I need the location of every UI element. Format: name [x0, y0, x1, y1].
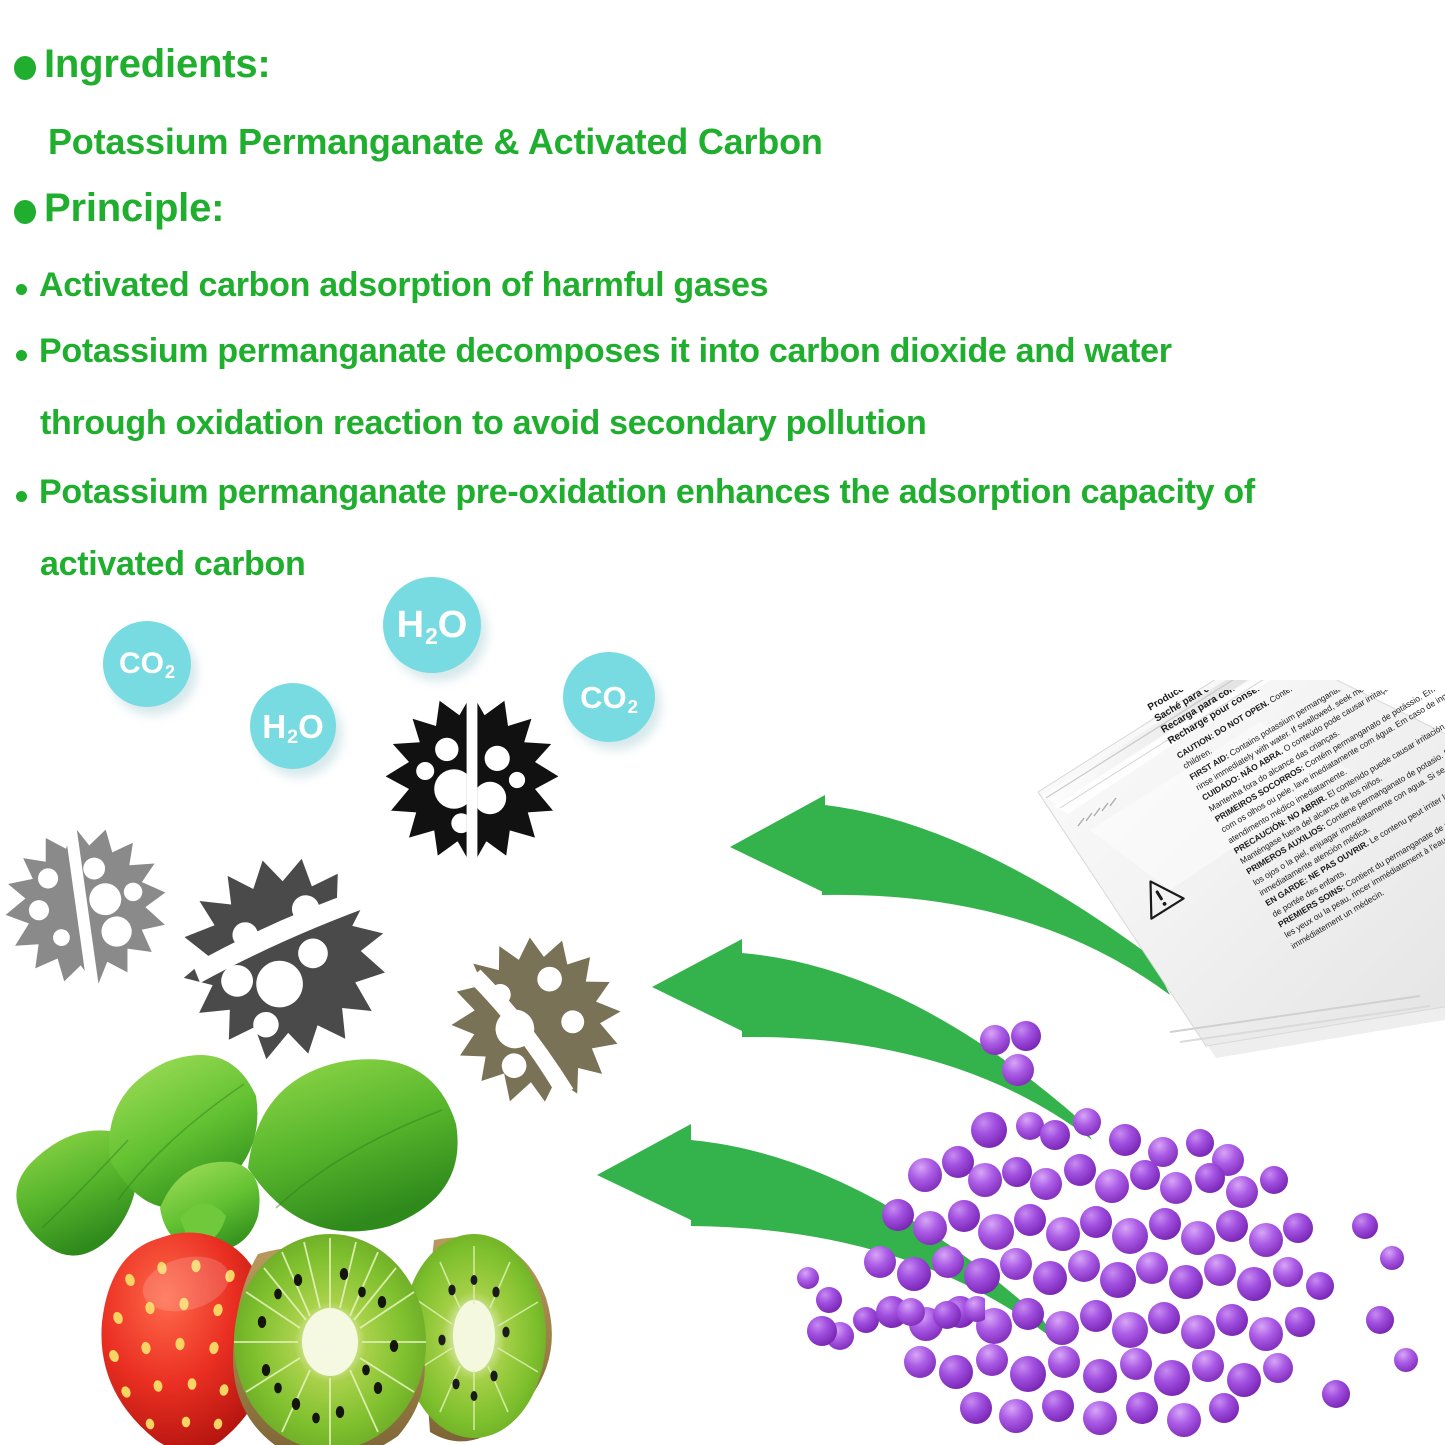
- principle-item-2-line-1: Potassium permanganate decomposes it int…: [39, 334, 1172, 368]
- ingredients-value: Potassium Permanganate & Activated Carbo…: [48, 121, 823, 162]
- virus-icon-black-split: [382, 690, 562, 870]
- potassium-permanganate-granules: [780, 1000, 1445, 1445]
- bullet-dot-icon: [14, 200, 36, 224]
- ingredients-heading: Ingredients:: [44, 44, 271, 84]
- gas-bubble-co2-left-label: CO: [119, 649, 164, 679]
- gas-bubble-h2o-top-tail: O: [438, 606, 468, 644]
- fresh-fruit-illustration: [0, 1040, 630, 1445]
- principle-item-1-line-1: Activated carbon adsorption of harmful g…: [39, 268, 768, 302]
- principle-item-2-line-2-row: through oxidation reaction to avoid seco…: [40, 406, 926, 440]
- gas-bubble-co2-left: CO2: [103, 621, 191, 707]
- ingredients-value-row: Potassium Permanganate & Activated Carbo…: [48, 124, 823, 160]
- principle-heading: Principle:: [44, 188, 224, 228]
- gas-bubble-h2o-top: H2O: [383, 577, 481, 673]
- gas-bubble-h2o-top-label: H: [397, 606, 424, 644]
- gas-bubble-h2o-top-subscript: 2: [425, 625, 438, 648]
- gas-bubble-co2-left-subscript: 2: [165, 663, 175, 681]
- bullet-dot-icon: [14, 56, 36, 80]
- principle-item-2: Potassium permanganate decomposes it int…: [16, 334, 1172, 368]
- principle-item-2-line-2: through oxidation reaction to avoid seco…: [40, 404, 926, 442]
- bullet-dot-icon: [16, 284, 27, 295]
- leaf-cluster: [16, 1055, 457, 1256]
- gas-bubble-co2-right: CO2: [563, 652, 655, 742]
- gas-bubble-h2o-lower: H2O: [250, 683, 336, 769]
- gas-bubble-h2o-lower-label: H: [262, 710, 286, 743]
- principle-heading-row: Principle:: [14, 188, 224, 228]
- bullet-dot-icon: [16, 491, 27, 502]
- ingredients-heading-row: Ingredients:: [14, 44, 271, 84]
- gas-bubble-h2o-lower-tail: O: [298, 710, 324, 743]
- principle-item-3: Potassium permanganate pre-oxidation enh…: [16, 475, 1255, 509]
- gas-bubble-h2o-lower-subscript: 2: [287, 728, 298, 748]
- virus-icon-light-gray-split: [0, 812, 181, 1002]
- gas-bubble-co2-right-subscript: 2: [628, 698, 638, 717]
- escaping-granules: [795, 1285, 985, 1375]
- kiwi-half-front: [233, 1234, 426, 1445]
- principle-item-3-line-2: activated carbon: [40, 545, 305, 583]
- principle-item-3-line-2-row: activated carbon: [40, 547, 305, 581]
- principle-item-3-line-1: Potassium permanganate pre-oxidation enh…: [39, 475, 1255, 509]
- bullet-dot-icon: [16, 350, 27, 361]
- infographic-canvas: Ingredients: Potassium Permanganate & Ac…: [0, 0, 1445, 1445]
- gas-bubble-co2-right-label: CO: [580, 682, 627, 713]
- principle-item-1: Activated carbon adsorption of harmful g…: [16, 268, 768, 302]
